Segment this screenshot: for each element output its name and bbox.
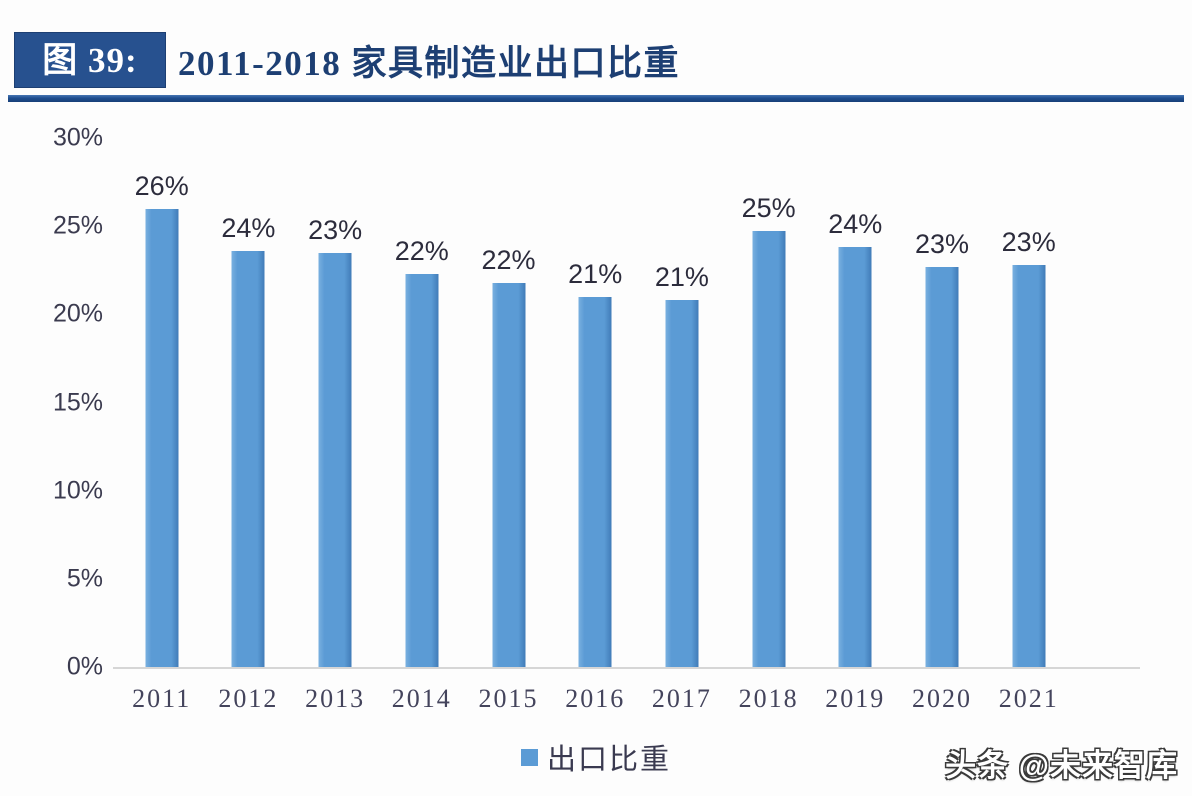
- figure-number-label: 图 39:: [42, 43, 137, 78]
- y-axis-tick-label: 10%: [11, 476, 103, 505]
- chart-bar[interactable]: [926, 267, 959, 667]
- bar-group: 24%: [205, 138, 291, 667]
- x-axis-line: [113, 667, 1140, 669]
- y-axis-tick-label: 0%: [11, 653, 103, 682]
- chart-bar[interactable]: [665, 300, 698, 667]
- bar-value-label: 25%: [742, 193, 796, 224]
- bar-group: 22%: [466, 138, 552, 667]
- chart-bar[interactable]: [145, 209, 178, 667]
- bar-value-label: 22%: [395, 236, 449, 267]
- chart-bar[interactable]: [1012, 265, 1045, 667]
- y-axis-tick-label: 20%: [11, 300, 103, 329]
- bar-group: 21%: [639, 138, 725, 667]
- watermark-text: 头条 @未来智库: [945, 740, 1178, 785]
- bar-value-label: 22%: [481, 245, 535, 276]
- bar-group: 21%: [552, 138, 638, 667]
- chart-bar[interactable]: [319, 253, 352, 667]
- figure-number-badge: 图 39:: [14, 32, 166, 88]
- y-axis: 30%25%20%15%10%5%0%: [0, 138, 103, 667]
- bar-value-label: 23%: [308, 215, 362, 246]
- plot-area: 26%24%23%22%22%21%21%25%24%23%23%: [113, 138, 1140, 667]
- bar-group: 22%: [379, 138, 465, 667]
- chart-bar[interactable]: [232, 251, 265, 667]
- y-axis-tick-label: 25%: [11, 212, 103, 241]
- chart-bar[interactable]: [752, 231, 785, 667]
- x-axis: 2011201220132014201520162017201820192020…: [113, 674, 1140, 724]
- legend-label: 出口比重: [547, 736, 671, 778]
- chart-bar[interactable]: [839, 247, 872, 667]
- y-axis-tick-label: 30%: [11, 124, 103, 153]
- bar-group: 24%: [812, 138, 898, 667]
- bar-value-label: 21%: [568, 259, 622, 290]
- bar-value-label: 23%: [915, 229, 969, 260]
- bar-value-label: 26%: [135, 171, 189, 202]
- bar-group: 23%: [292, 138, 378, 667]
- x-axis-tick-label: 2021: [974, 684, 1084, 714]
- bar-value-label: 21%: [655, 262, 709, 293]
- figure-header: 图 39: 2011-2018 家具制造业出口比重: [0, 0, 1192, 104]
- chart-bar[interactable]: [405, 274, 438, 667]
- bar-group: 23%: [986, 138, 1072, 667]
- bar-value-label: 24%: [828, 209, 882, 240]
- chart-bar[interactable]: [579, 297, 612, 667]
- title-divider: [8, 95, 1184, 102]
- bar-group: 23%: [899, 138, 985, 667]
- chart-bar[interactable]: [492, 283, 525, 667]
- bar-group: 25%: [726, 138, 812, 667]
- y-axis-tick-label: 5%: [11, 564, 103, 593]
- bar-group: 26%: [119, 138, 205, 667]
- page-title: 2011-2018 家具制造业出口比重: [178, 32, 680, 88]
- y-axis-tick-label: 15%: [11, 388, 103, 417]
- legend-swatch-icon: [521, 749, 538, 766]
- bar-value-label: 24%: [221, 213, 275, 244]
- bar-value-label: 23%: [1002, 227, 1056, 258]
- chart-container: 30%25%20%15%10%5%0% 26%24%23%22%22%21%21…: [0, 104, 1192, 796]
